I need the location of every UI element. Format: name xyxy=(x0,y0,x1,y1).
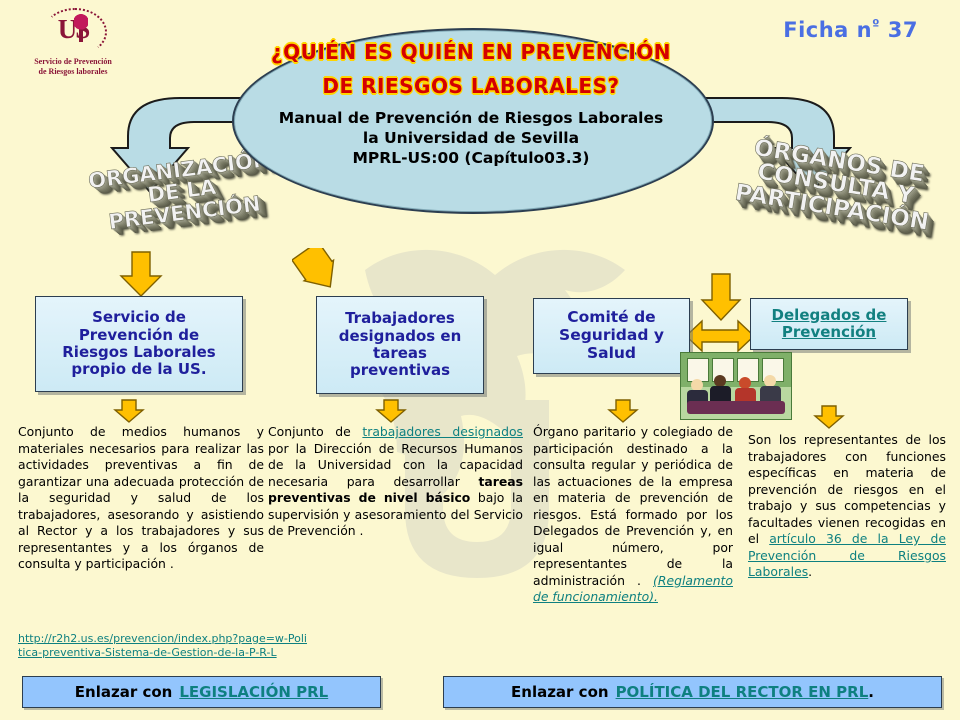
box1-line2: Prevención de xyxy=(62,327,215,344)
sheet-number-prefix: Ficha n xyxy=(783,18,872,42)
box1-text: Servicio de Prevención de Riesgos Labora… xyxy=(62,309,215,379)
banner1-link[interactable]: LEGISLACIÓN PRL xyxy=(179,683,328,701)
col2-part1: Conjunto de xyxy=(268,424,362,439)
col2-link-trabajadores-designados[interactable]: trabajadores designados xyxy=(362,424,523,439)
down-arrow-icon-col4 xyxy=(812,404,846,430)
col1-text: Conjunto de medios humanos y materiales … xyxy=(18,424,264,571)
box-trabajadores-designados[interactable]: Trabajadores designados en tareas preven… xyxy=(316,296,484,394)
down-arrow-icon-2 xyxy=(292,248,340,292)
box3-line2: Seguridad y xyxy=(559,327,664,345)
box2-text: Trabajadores designados en tareas preven… xyxy=(339,310,462,380)
box2-line2: designados en xyxy=(339,328,462,345)
col4-part1: Son los representantes de los trabajador… xyxy=(748,432,946,546)
banner2-link[interactable]: POLÍTICA DEL RECTOR EN PRL xyxy=(616,683,869,701)
sheet-number-ordinal: º xyxy=(872,18,880,33)
logo-caption: Servicio de Prevención de Riesgos labora… xyxy=(18,57,128,77)
title-subtitle-line3: MPRL-US:00 (Capítulo03.3) xyxy=(244,149,698,169)
title-oval-text: ¿QUIÉN ES QUIÉN EN PREVENCIÓN DE RIESGOS… xyxy=(244,40,698,168)
description-column-3: Órgano paritario y colegiado de particip… xyxy=(533,424,733,606)
col1-url-link[interactable]: http://r2h2.us.es/prevencion/index.php?p… xyxy=(18,632,308,661)
box3-line3: Salud xyxy=(559,345,664,363)
logo-monogram: US xyxy=(34,16,112,43)
title-wordart-line1: ¿QUIÉN ES QUIÉN EN PREVENCIÓN xyxy=(244,40,698,64)
down-arrow-icon-col1 xyxy=(112,398,146,424)
title-subtitle-line1: Manual de Prevención de Riesgos Laborale… xyxy=(244,109,698,129)
logo-tree-icon xyxy=(74,14,88,42)
logo-caption-line1: Servicio de Prevención xyxy=(18,57,128,67)
banner2-suffix: . xyxy=(868,683,874,701)
box4-link[interactable]: Delegados de Prevención xyxy=(772,307,887,342)
title-wordart-line2: DE RIESGOS LABORALES? xyxy=(244,74,698,98)
sheet-number: Ficha nº 37 xyxy=(783,18,918,42)
box3-line1: Comité de xyxy=(559,309,664,327)
box2-line3: tareas xyxy=(339,345,462,362)
box1-line4: propio de la US. xyxy=(62,361,215,378)
box1-line1: Servicio de xyxy=(62,309,215,326)
description-column-4: Son los representantes de los trabajador… xyxy=(748,432,946,581)
banner-politica-rector-prl[interactable]: Enlazar con POLÍTICA DEL RECTOR EN PRL . xyxy=(443,676,942,708)
title-subtitle: Manual de Prevención de Riesgos Laborale… xyxy=(244,109,698,168)
box-comite-seguridad-salud[interactable]: Comité de Seguridad y Salud xyxy=(533,298,690,374)
banner2-prefix: Enlazar con xyxy=(511,683,609,701)
logo-seal: US xyxy=(34,8,112,56)
description-column-1: Conjunto de medios humanos y materiales … xyxy=(18,424,264,573)
box-delegados-prevencion[interactable]: Delegados de Prevención xyxy=(750,298,908,350)
meeting-photo xyxy=(680,352,792,420)
title-subtitle-line2: la Universidad de Sevilla xyxy=(244,129,698,149)
banner1-prefix: Enlazar con xyxy=(75,683,173,701)
university-logo: US Servicio de Prevención de Riesgos lab… xyxy=(18,8,128,80)
wordart-organos-consulta: ÓRGANOS DE CONSULTA Y PARTICIPACIÓN xyxy=(714,132,957,238)
down-arrow-icon-col3 xyxy=(606,398,640,424)
box3-text: Comité de Seguridad y Salud xyxy=(559,309,664,363)
description-column-2: Conjunto de trabajadores designados por … xyxy=(268,424,523,540)
box1-line3: Riesgos Laborales xyxy=(62,344,215,361)
box2-line4: preventivas xyxy=(339,362,462,379)
logo-caption-line2: de Riesgos laborales xyxy=(18,67,128,77)
box4-line2: Prevención xyxy=(772,324,887,341)
col4-part2: . xyxy=(808,564,812,579)
sheet-number-value: 37 xyxy=(888,18,918,42)
photo-table xyxy=(687,401,785,414)
left-right-arrow-icon xyxy=(684,316,756,356)
col4-link-articulo-36[interactable]: artículo 36 de la Ley de Prevención de R… xyxy=(748,531,946,579)
down-arrow-icon-1 xyxy=(118,250,164,298)
down-arrow-icon-3 xyxy=(700,272,742,322)
down-arrow-icon-col2 xyxy=(374,398,408,424)
poster-canvas: US Servicio de Prevención de Riesgos lab… xyxy=(0,0,960,720)
box4-line1: Delegados de xyxy=(772,307,887,324)
banner-legislacion-prl[interactable]: Enlazar con LEGISLACIÓN PRL xyxy=(22,676,381,708)
col3-part1: Órgano paritario y colegiado de particip… xyxy=(533,424,733,588)
box2-line1: Trabajadores xyxy=(339,310,462,327)
box-servicio-prevencion[interactable]: Servicio de Prevención de Riesgos Labora… xyxy=(35,296,243,392)
